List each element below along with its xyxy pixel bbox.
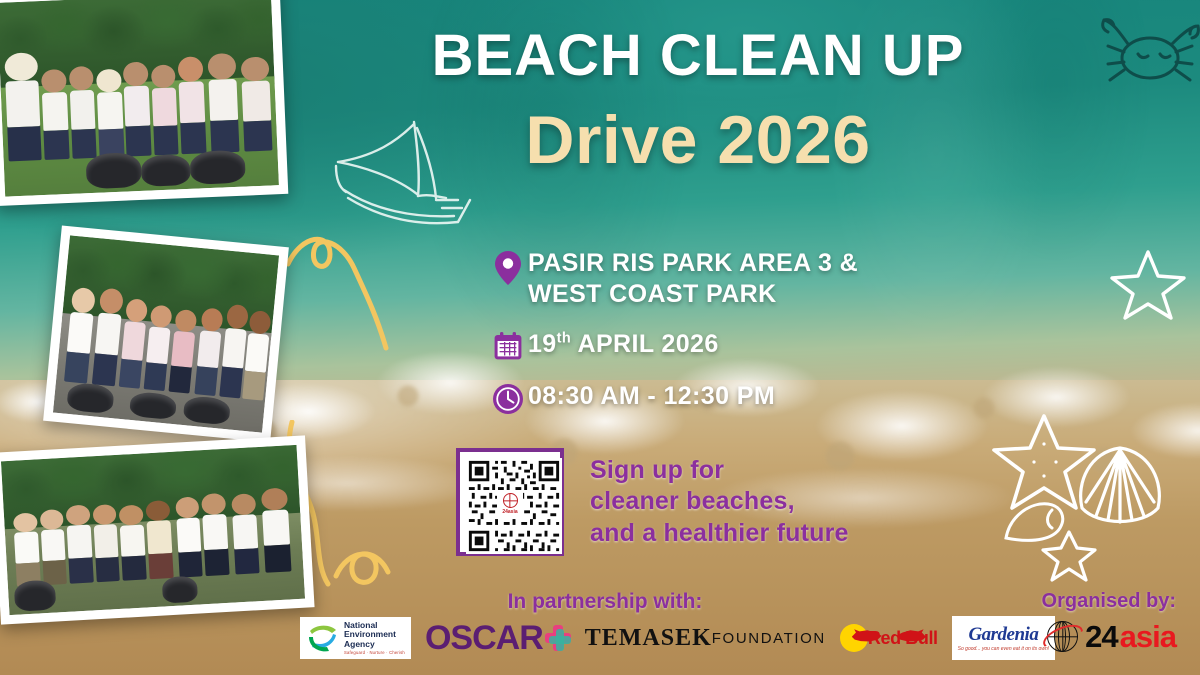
time-text: 08:30 AM - 12:30 PM: [528, 381, 775, 412]
date-ordinal: th: [557, 331, 572, 347]
starfish-small-doodle: [1040, 528, 1098, 582]
event-details: PASIR RIS PARK AREA 3 & WEST COAST PARK: [488, 248, 968, 435]
partner-logos: National Environment Agency Safeguard · …: [300, 616, 1055, 660]
nea-line-3: Agency: [344, 640, 405, 650]
gardenia-text: Gardenia: [968, 625, 1038, 644]
crab-doodle: [1098, 6, 1200, 98]
logo-gardenia: Gardenia So good... you can even eat it …: [952, 616, 1055, 660]
photo-volunteers-grass: [0, 0, 288, 206]
temasek-line-1: TEMASEK: [585, 625, 712, 652]
photo-students-litter-pickers: [0, 435, 315, 624]
detail-time: 08:30 AM - 12:30 PM: [488, 381, 968, 415]
poster-canvas: BEACH CLEAN UP Drive 2026 PASIR RIS PARK…: [0, 0, 1200, 675]
logo-national-environment-agency: National Environment Agency Safeguard · …: [300, 617, 411, 659]
location-text: PASIR RIS PARK AREA 3 & WEST COAST PARK: [528, 248, 858, 309]
oscar-cross-icon: [545, 625, 571, 651]
signup-line-2: cleaner beaches,: [590, 486, 849, 518]
globe-icon: [1041, 616, 1083, 658]
poster-title: BEACH CLEAN UP: [398, 26, 998, 85]
detail-location: PASIR RIS PARK AREA 3 & WEST COAST PARK: [488, 248, 968, 309]
signup-line-3: and a healthier future: [590, 518, 849, 550]
globe-icon: [503, 493, 518, 508]
location-pin-icon: [488, 248, 528, 286]
nea-swoosh-icon: [306, 621, 340, 655]
partnership-label: In partnership with:: [430, 590, 780, 614]
poster-subtitle: Drive 2026: [398, 106, 998, 175]
photo-scene: [53, 235, 279, 432]
logo-temasek-foundation: TEMASEK FOUNDATION: [585, 625, 826, 652]
squiggle-doodle: [286, 228, 416, 378]
qr-code[interactable]: 24asia: [456, 448, 564, 556]
logo-oscar: OSCAR: [425, 619, 571, 658]
calendar-icon: [488, 329, 528, 361]
signup-section: 24asia Sign up for cleaner beaches, and …: [456, 448, 849, 556]
date-text: 19th APRIL 2026: [528, 329, 719, 360]
signup-text: Sign up for cleaner beaches, and a healt…: [590, 455, 849, 550]
detail-date: 19th APRIL 2026: [488, 329, 968, 361]
photo-volunteers-path: [43, 226, 289, 443]
org-name-part-2: asia: [1120, 619, 1176, 655]
photo-scene: [1, 445, 305, 615]
seashell-doodle: [1072, 440, 1168, 532]
redbull-bulls-icon: [852, 625, 926, 651]
photo-scene: [0, 0, 279, 197]
location-line-2: WEST COAST PARK: [528, 279, 858, 310]
starfish-doodle: [1106, 246, 1190, 326]
signup-line-1: Sign up for: [590, 455, 849, 487]
temasek-line-2: FOUNDATION: [712, 630, 826, 647]
clock-icon: [488, 381, 528, 415]
organised-label: Organised by:: [1042, 590, 1176, 613]
date-day: 19: [528, 330, 557, 358]
qr-center-logo: 24asia: [497, 491, 523, 517]
nea-tagline: Safeguard · Nurture · Cherish: [344, 650, 405, 655]
date-rest: APRIL 2026: [571, 330, 719, 358]
qr-logo-text: 24asia: [502, 509, 517, 515]
logo-red-bull: Red Bull: [840, 624, 938, 653]
oscar-text: OSCAR: [425, 619, 543, 658]
logo-24asia: 24 asia: [1041, 616, 1176, 658]
org-name-part-1: 24: [1085, 619, 1117, 655]
location-line-1: PASIR RIS PARK AREA 3 &: [528, 248, 858, 279]
gardenia-tagline: So good... you can even eat it on its ow…: [958, 646, 1049, 652]
